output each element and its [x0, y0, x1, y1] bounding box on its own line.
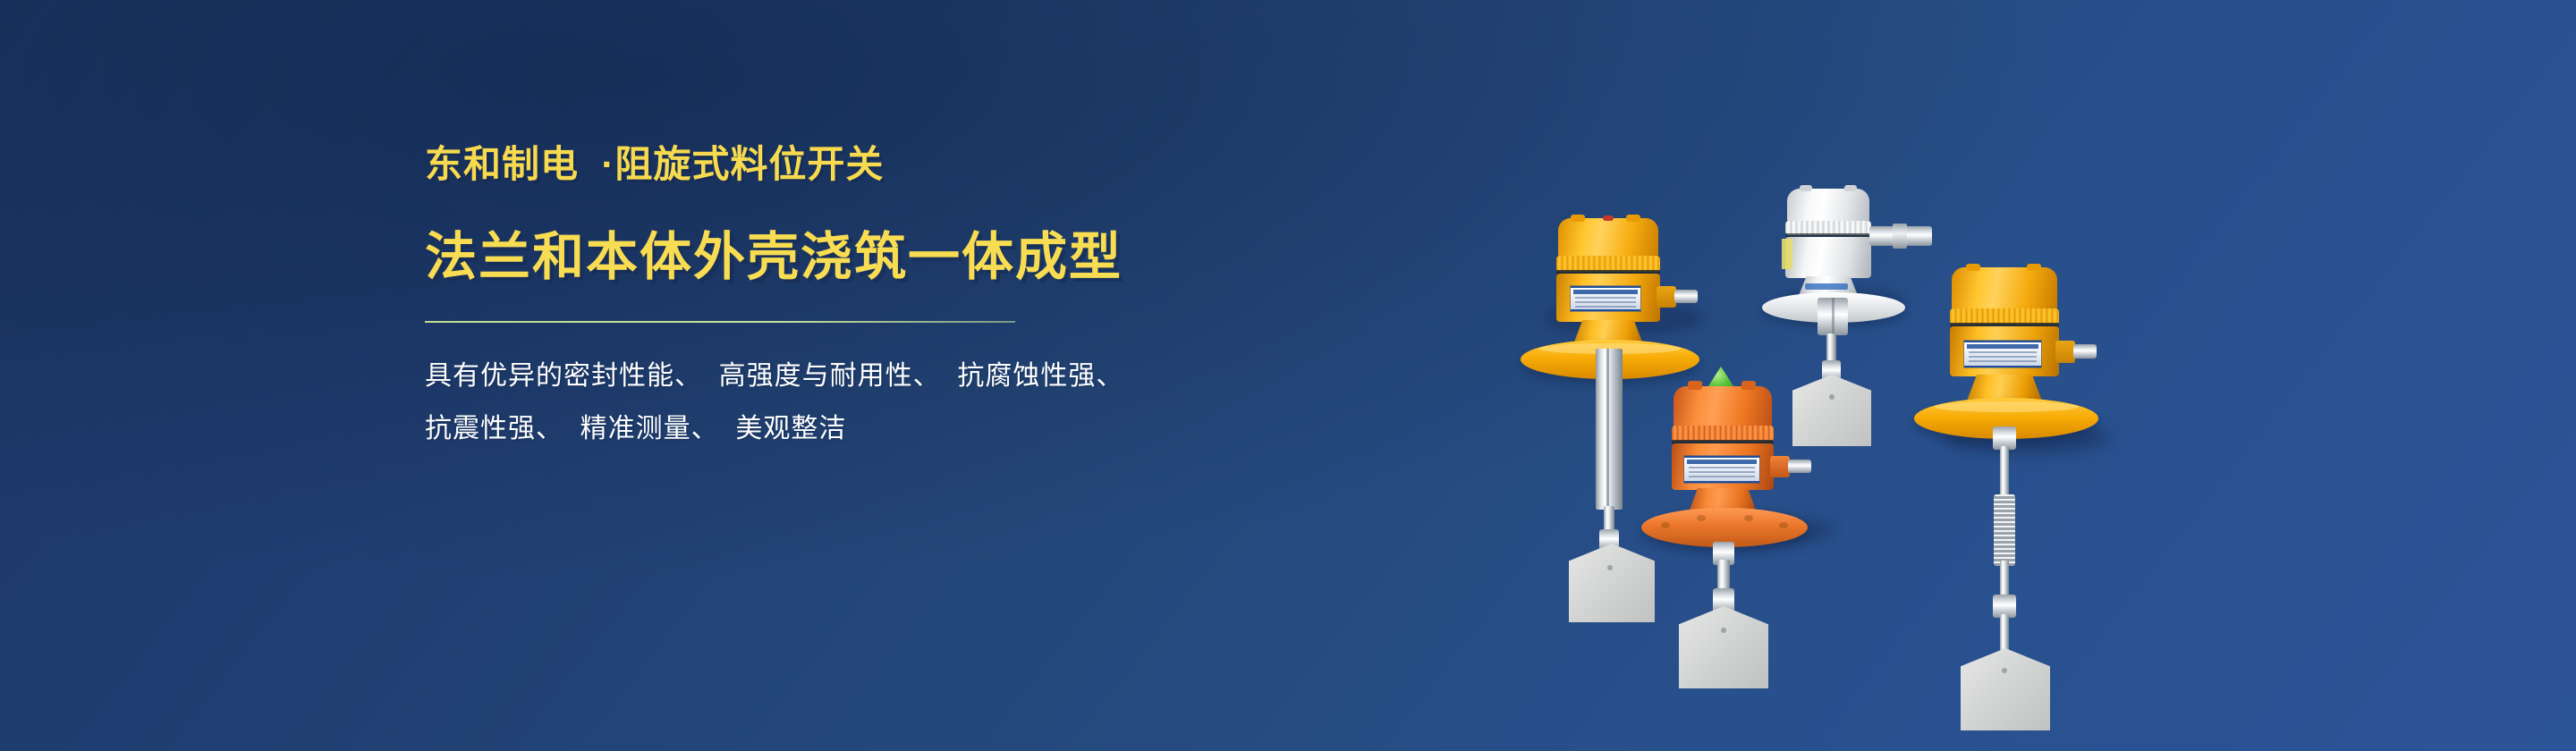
- cap-notch-right: [2027, 264, 2041, 271]
- paddle-blade: [1679, 606, 1768, 688]
- paddle-rivet: [1721, 628, 1726, 633]
- shaft-hub-seam: [1832, 298, 1835, 335]
- flange-bolt-hole: [1779, 522, 1788, 528]
- tension-spring: [1994, 494, 2015, 566]
- extension-tube-seam: [1606, 349, 1609, 510]
- housing-cap: [1952, 267, 2057, 312]
- product-label: [1684, 456, 1759, 483]
- cable-gland-icon: [2073, 344, 2097, 359]
- cap-notch-left: [1800, 185, 1812, 191]
- product-image-group: [1467, 36, 2218, 715]
- banner-headline: 法兰和本体外壳浇筑一体成型: [425, 226, 1427, 290]
- banner-text-block: 东和制电 ·阻旋式料位开关 法兰和本体外壳浇筑一体成型 具有优异的密封性能、 高…: [425, 141, 1427, 452]
- gland-nut: [1893, 224, 1907, 249]
- product-yellow-cable: [1914, 264, 2165, 729]
- housing-cap: [1558, 218, 1658, 259]
- warning-sticker: [1782, 239, 1792, 269]
- banner-description-line-2: 抗震性强、 精准测量、 美观整洁: [425, 406, 1427, 453]
- cap-red-dot: [1603, 215, 1614, 221]
- extension-tube: [1596, 349, 1623, 510]
- cable-gland-neck: [1770, 456, 1790, 477]
- flange-bolt-hole: [1697, 515, 1706, 521]
- cap-notch-right: [1844, 185, 1857, 191]
- cable-gland-neck: [1657, 286, 1676, 308]
- paddle-blade: [1961, 648, 2050, 730]
- promo-banner: 东和制电 ·阻旋式料位开关 法兰和本体外壳浇筑一体成型 具有优异的密封性能、 高…: [0, 0, 2576, 751]
- cable-gland-neck: [2055, 341, 2075, 363]
- cap-notch-left: [1688, 381, 1702, 390]
- banner-eyebrow: 东和制电 ·阻旋式料位开关: [425, 141, 1427, 189]
- housing-cap: [1787, 189, 1869, 224]
- paddle-rivet: [1607, 565, 1613, 570]
- cap-notch-left: [1966, 264, 1980, 271]
- neck-blue-band: [1805, 283, 1848, 290]
- housing-body: [1785, 237, 1871, 278]
- flange-bolt-hole: [1744, 515, 1753, 521]
- housing-cap: [1674, 386, 1772, 431]
- cap-notch-left: [1571, 215, 1585, 222]
- banner-description-line-1: 具有优异的密封性能、 高强度与耐用性、 抗腐蚀性强、: [425, 353, 1427, 401]
- banner-divider: [425, 321, 1015, 323]
- cable-gland-icon: [1674, 290, 1698, 303]
- cap-notch-right: [1741, 381, 1756, 390]
- flange-bolt-hole: [1661, 522, 1670, 528]
- product-orange-flanged: [1641, 367, 1892, 724]
- cable-gland-icon: [1788, 460, 1811, 473]
- product-label: [1964, 341, 2041, 367]
- flange-top-highlight: [1934, 401, 2079, 412]
- cable-upper: [2000, 446, 2009, 500]
- product-label: [1571, 286, 1640, 311]
- paddle-rivet: [2002, 668, 2007, 673]
- cap-notch-right: [1626, 215, 1640, 222]
